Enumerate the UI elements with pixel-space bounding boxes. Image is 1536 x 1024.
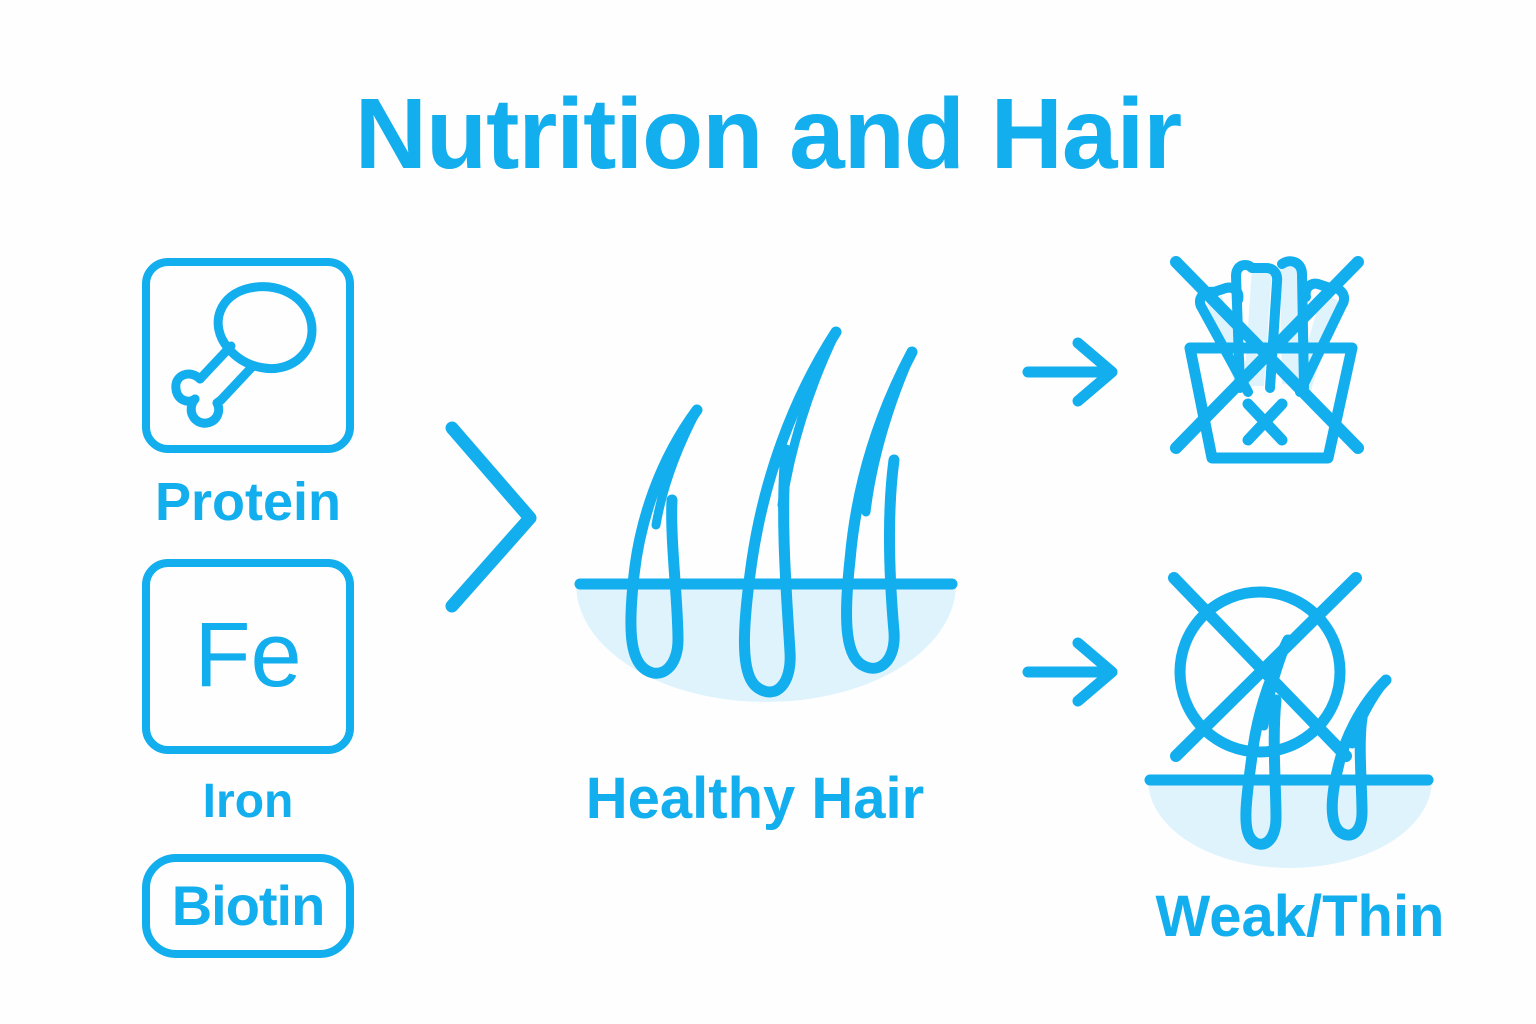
biotin-pill-icon: Biotin xyxy=(142,854,354,958)
fe-symbol-icon: Fe xyxy=(150,567,346,746)
protein-icon-box xyxy=(142,258,354,453)
chevron-right-icon xyxy=(452,428,530,606)
caption-weak-thin: Weak/Thin xyxy=(1090,888,1510,946)
nutrient-list: Protein Fe Iron Biotin xyxy=(142,258,354,958)
no-junk-food-fries-icon xyxy=(1176,261,1358,458)
carton-x-mark xyxy=(1248,404,1282,440)
page-title: Nutrition and Hair xyxy=(0,82,1536,187)
infographic-canvas: Nutrition and Hair xyxy=(0,0,1536,1024)
caption-healthy-hair: Healthy Hair xyxy=(0,770,1523,828)
arrow-right-icon-top xyxy=(1028,343,1112,401)
nutrient-label-protein: Protein xyxy=(142,475,354,529)
drumstick-icon xyxy=(150,266,346,445)
iron-icon-box: Fe xyxy=(142,559,354,754)
nutrient-card-protein[interactable]: Protein xyxy=(142,258,354,529)
fries-sticks xyxy=(1200,261,1344,394)
healthy-hair-follicles-icon xyxy=(576,332,956,702)
biotin-text: Biotin xyxy=(172,878,325,934)
spacer xyxy=(142,529,354,559)
arrow-right-icon-bottom xyxy=(1028,643,1112,701)
nutrient-card-biotin[interactable]: Biotin xyxy=(142,854,354,958)
spacer xyxy=(142,826,354,854)
fe-symbol-text: Fe xyxy=(194,609,301,701)
